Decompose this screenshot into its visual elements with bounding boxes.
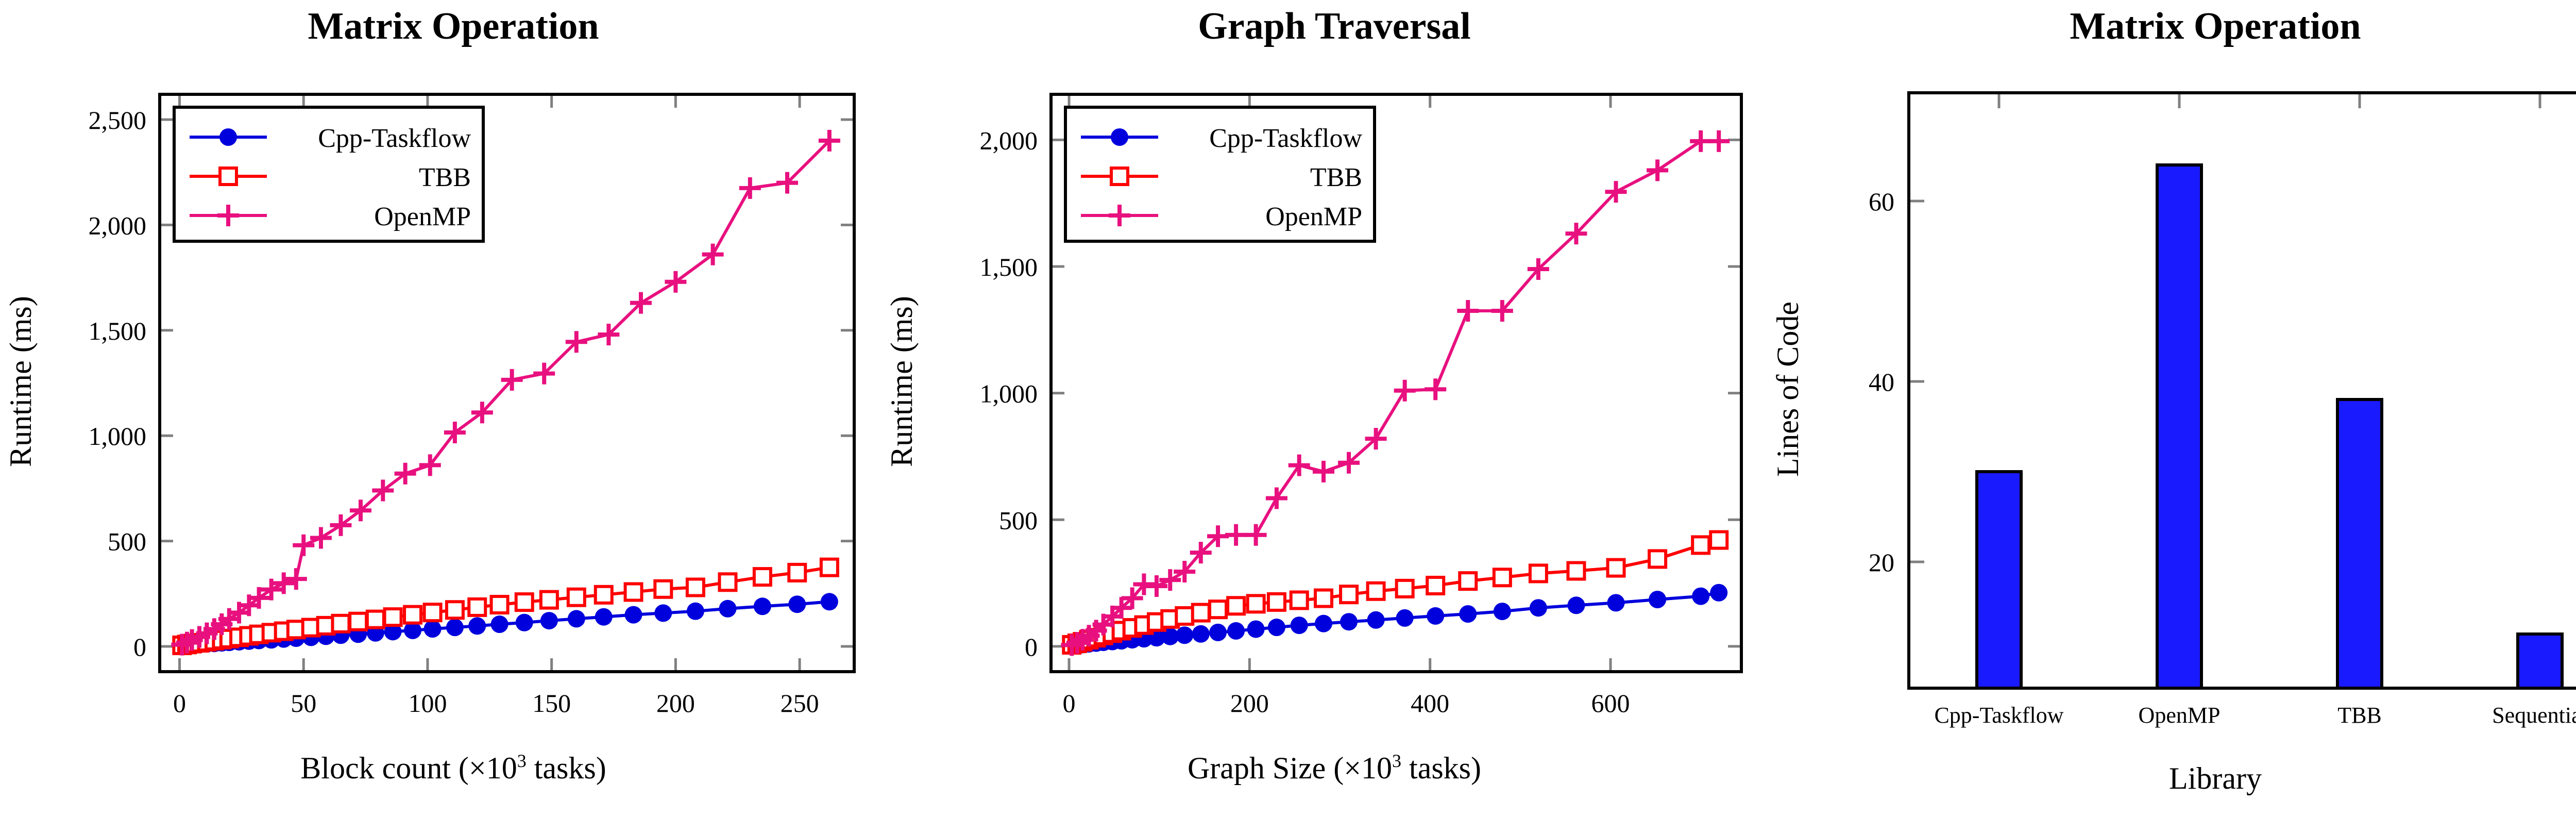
data-point xyxy=(516,614,533,631)
y-axis-label-group: Runtime (ms) xyxy=(4,296,38,467)
x-tick-label: 50 xyxy=(291,689,316,718)
y-tick-label: 2,000 xyxy=(980,126,1038,155)
data-point xyxy=(1209,624,1227,641)
legend-label: OpenMP xyxy=(1265,202,1362,231)
y-tick-label: 60 xyxy=(1869,187,1894,216)
data-point xyxy=(404,607,421,623)
data-point xyxy=(1210,601,1226,618)
data-point xyxy=(1530,565,1547,581)
data-point xyxy=(1692,588,1709,605)
data-point xyxy=(332,615,349,632)
category-label: Cpp-Taskflow xyxy=(1934,703,2063,728)
y-tick-label: 1,500 xyxy=(89,317,147,345)
y-tick-label: 0 xyxy=(133,632,146,661)
data-point xyxy=(1228,597,1244,614)
data-point xyxy=(719,574,736,590)
data-point xyxy=(1608,560,1624,576)
data-point xyxy=(625,606,642,624)
x-axis-label: Library xyxy=(2169,761,2262,795)
data-point xyxy=(1427,577,1444,594)
data-point xyxy=(655,581,671,597)
data-point xyxy=(1649,591,1666,608)
data-point xyxy=(1710,532,1727,548)
axis-tick-labels: 204060 xyxy=(1869,187,1894,577)
data-point xyxy=(1427,607,1444,625)
x-axis-label: Block count (×103 tasks) xyxy=(300,751,606,785)
data-point xyxy=(1530,599,1547,617)
chart-matrix-operation-runtime: Matrix Operation Runtime (ms) Block coun… xyxy=(0,0,876,816)
data-point xyxy=(469,599,485,615)
y-tick-label: 500 xyxy=(999,506,1038,535)
data-point xyxy=(1192,625,1210,643)
data-point xyxy=(1268,594,1285,610)
x-tick-label: 400 xyxy=(1411,689,1449,718)
data-point xyxy=(1247,620,1265,638)
data-point xyxy=(754,597,771,615)
x-tick-label: 250 xyxy=(781,689,819,718)
y-axis-label: Lines of Code xyxy=(1771,302,1805,477)
data-point xyxy=(446,619,464,636)
data-point xyxy=(491,615,509,633)
data-point xyxy=(754,569,771,585)
data-point xyxy=(1268,619,1285,636)
data-point xyxy=(1459,605,1477,623)
y-tick-label: 40 xyxy=(1869,368,1894,396)
legend-marker-square-icon xyxy=(220,168,236,185)
data-point xyxy=(1494,569,1511,586)
category-label: TBB xyxy=(2337,703,2382,728)
data-point xyxy=(654,604,672,622)
x-axis-label-main: Graph Size (×10 xyxy=(1188,751,1392,785)
chart-matrix-operation-loc: Matrix Operation Lines of Code Library 2… xyxy=(1752,0,2576,816)
data-point xyxy=(1315,615,1332,632)
y-axis-label-group: Runtime (ms) xyxy=(885,296,919,467)
data-point xyxy=(468,617,486,635)
y-tick-label: 0 xyxy=(1025,632,1038,661)
x-axis-label-exponent: 3 xyxy=(517,751,527,771)
data-point xyxy=(595,608,613,626)
data-point xyxy=(1710,584,1727,602)
data-point xyxy=(1568,562,1584,579)
category-labels: Cpp-TaskflowOpenMPTBBSequential xyxy=(1934,703,2576,728)
panel-matrix-operation-loc: Matrix Operation Lines of Code Library 2… xyxy=(1752,0,2576,816)
data-point xyxy=(1494,603,1511,620)
data-point xyxy=(568,610,585,627)
x-tick-label: 200 xyxy=(1230,689,1269,718)
chart-title: Matrix Operation xyxy=(2070,5,2361,47)
data-point xyxy=(1227,622,1245,640)
data-point xyxy=(424,620,442,638)
chart-graph-traversal-runtime: Graph Traversal Runtime (ms) Graph Size … xyxy=(876,0,1752,816)
data-point xyxy=(1315,590,1332,607)
bar-tbb xyxy=(2337,399,2382,688)
legend-label: TBB xyxy=(419,163,471,192)
bar-openmp xyxy=(2157,165,2201,688)
data-point xyxy=(788,595,806,613)
panel-graph-traversal-runtime: Graph Traversal Runtime (ms) Graph Size … xyxy=(876,0,1752,816)
x-axis-label-exponent: 3 xyxy=(1392,751,1401,771)
data-point xyxy=(350,613,366,630)
data-point xyxy=(1367,611,1385,629)
x-axis-label-main: Block count (×10 xyxy=(300,751,517,785)
data-point xyxy=(1341,586,1357,603)
data-point xyxy=(1460,573,1476,589)
data-point xyxy=(1193,605,1209,621)
figure-root: Matrix Operation Runtime (ms) Block coun… xyxy=(0,0,2576,816)
x-tick-label: 0 xyxy=(1063,689,1076,718)
data-point xyxy=(596,587,612,603)
x-tick-label: 200 xyxy=(656,689,695,718)
data-point xyxy=(1649,551,1666,567)
x-tick-label: 0 xyxy=(173,689,186,718)
data-point xyxy=(492,596,508,613)
data-point xyxy=(625,584,642,600)
legend-marker-circle-icon xyxy=(219,128,237,146)
x-tick-label: 600 xyxy=(1591,689,1630,718)
legend-label: Cpp-Taskflow xyxy=(318,124,471,153)
data-point xyxy=(541,592,557,608)
x-axis-label-tail: tasks) xyxy=(1401,751,1481,785)
y-tick-label: 2,000 xyxy=(89,211,147,240)
data-point xyxy=(1291,617,1308,634)
x-tick-label: 150 xyxy=(532,689,571,718)
data-point xyxy=(1692,537,1709,553)
category-label: Sequential xyxy=(2492,703,2576,728)
data-point xyxy=(385,609,401,625)
panel-matrix-operation-runtime: Matrix Operation Runtime (ms) Block coun… xyxy=(0,0,876,816)
data-point xyxy=(568,589,585,606)
data-point xyxy=(1397,580,1413,597)
x-axis-label: Graph Size (×103 tasks) xyxy=(1188,751,1481,785)
y-tick-label: 2,500 xyxy=(89,106,147,135)
data-point xyxy=(367,611,384,628)
legend[interactable]: Cpp-TaskflowTBBOpenMP xyxy=(174,107,483,241)
data-point xyxy=(719,600,736,618)
data-point xyxy=(1340,613,1358,630)
category-label: OpenMP xyxy=(2139,703,2221,728)
legend-marker-circle-icon xyxy=(1111,128,1128,146)
x-axis-label-tail: tasks) xyxy=(527,751,606,785)
data-point xyxy=(516,594,533,610)
y-tick-label: 20 xyxy=(1869,548,1894,577)
legend-label: Cpp-Taskflow xyxy=(1209,124,1362,153)
legend[interactable]: Cpp-TaskflowTBBOpenMP xyxy=(1065,107,1375,241)
y-axis-label: Runtime (ms) xyxy=(885,296,919,467)
data-point xyxy=(425,604,441,621)
y-tick-label: 1,000 xyxy=(980,379,1038,408)
y-axis-label-group: Lines of Code xyxy=(1771,302,1805,477)
chart-title: Matrix Operation xyxy=(308,5,599,47)
data-point xyxy=(687,579,704,595)
data-point xyxy=(540,612,558,629)
data-point xyxy=(1396,609,1414,627)
y-axis-label: Runtime (ms) xyxy=(4,296,38,467)
data-point xyxy=(1176,626,1193,644)
data-point xyxy=(687,603,704,620)
x-tick-label: 100 xyxy=(408,689,447,718)
legend-marker-square-icon xyxy=(1111,168,1128,185)
y-tick-label: 1,000 xyxy=(89,422,147,451)
bar-sequential xyxy=(2518,634,2562,688)
chart-title: Graph Traversal xyxy=(1198,5,1471,47)
data-point xyxy=(789,564,805,581)
data-point xyxy=(1176,608,1193,624)
data-point xyxy=(821,593,838,610)
bar-cpp-taskflow xyxy=(1977,472,2021,688)
legend-label: TBB xyxy=(1310,163,1362,192)
y-tick-label: 1,500 xyxy=(980,253,1038,281)
y-tick-label: 500 xyxy=(108,527,146,556)
data-point xyxy=(1607,594,1625,611)
data-point xyxy=(1248,595,1264,612)
data-point xyxy=(447,602,463,618)
data-point xyxy=(1567,596,1585,614)
data-point xyxy=(1368,583,1384,599)
data-point xyxy=(1291,592,1308,608)
data-point xyxy=(821,559,838,576)
legend-label: OpenMP xyxy=(374,202,471,231)
bar-group xyxy=(1977,165,2562,688)
